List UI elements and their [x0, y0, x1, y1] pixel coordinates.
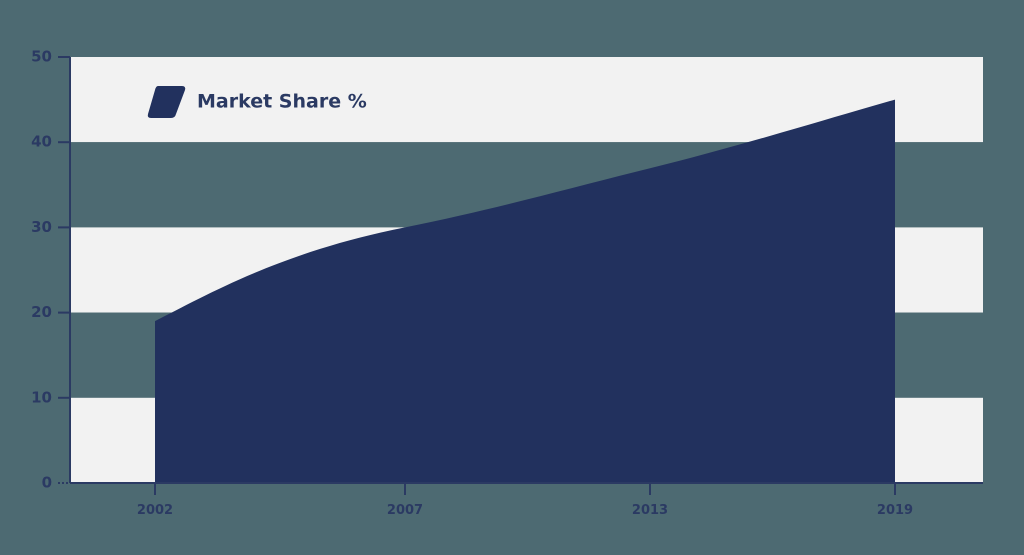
- y-axis-ticks: [58, 57, 70, 483]
- chart-canvas: 50 40 30 20 10 0 2002 2007 2013 2019 Mar…: [0, 0, 1024, 555]
- x-tick-label-2007: 2007: [387, 503, 423, 518]
- y-tick-label-40: 40: [31, 133, 52, 151]
- y-tick-label-50: 50: [31, 48, 52, 66]
- area-chart-figure: 50 40 30 20 10 0 2002 2007 2013 2019 Mar…: [0, 0, 1024, 555]
- y-tick-label-10: 10: [31, 388, 52, 406]
- y-axis-tick-labels: 50 40 30 20 10 0: [31, 48, 52, 492]
- x-axis-tick-labels: 2002 2007 2013 2019: [137, 503, 913, 518]
- x-tick-label-2013: 2013: [632, 503, 668, 518]
- y-tick-label-30: 30: [31, 218, 52, 236]
- legend-label-market-share: Market Share %: [197, 91, 367, 113]
- x-tick-label-2019: 2019: [877, 503, 913, 518]
- y-tick-label-0: 0: [42, 474, 52, 492]
- y-tick-label-20: 20: [31, 303, 52, 321]
- x-axis-ticks: [155, 483, 895, 495]
- x-tick-label-2002: 2002: [137, 503, 173, 518]
